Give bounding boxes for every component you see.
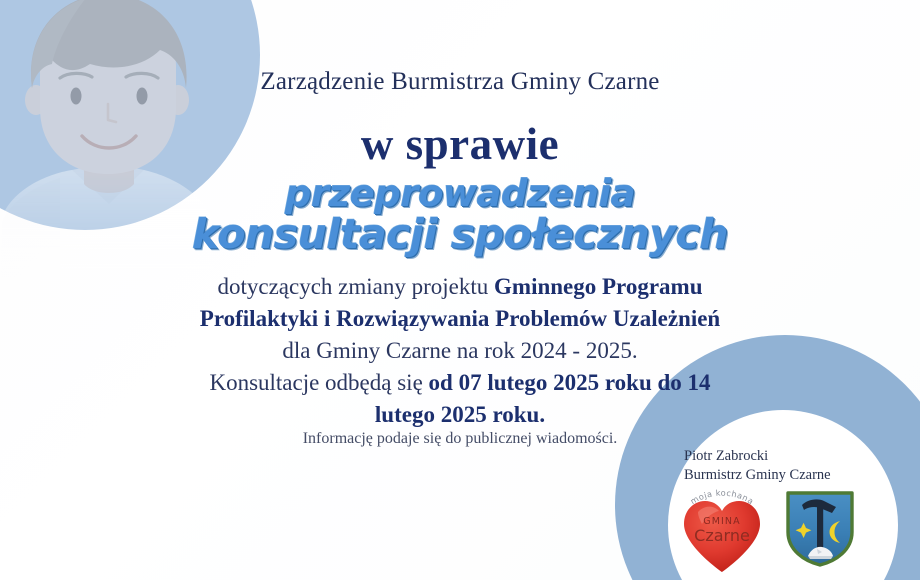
body-line-1-bold: Gminnego Programu — [494, 274, 702, 299]
gmina-czarne-heart-logo: moja kochana GMINA Czarne — [676, 488, 768, 576]
coat-of-arms-icon — [784, 488, 856, 568]
signature-name: Piotr Zabrocki — [684, 447, 831, 466]
body-line-5-bold: lutego 2025 roku. — [375, 402, 545, 427]
signature-block: Piotr Zabrocki Burmistrz Gminy Czarne — [684, 447, 831, 484]
logo-row: moja kochana GMINA Czarne — [676, 488, 876, 580]
body-line-2-bold: Profilaktyki i Rozwiązywania Problemów U… — [200, 306, 720, 331]
heart-icon — [676, 488, 768, 576]
footnote-text: Informację podaje się do publicznej wiad… — [0, 430, 920, 448]
blue-headline-line-1: przeprowadzenia — [0, 176, 920, 212]
subtitle-w-sprawie: w sprawie — [0, 118, 920, 170]
body-line-5: lutego 2025 roku. — [0, 399, 920, 431]
body-line-1: dotyczących zmiany projektu Gminnego Pro… — [0, 271, 920, 303]
body-line-4-bold: od 07 lutego 2025 roku do 14 — [429, 370, 711, 395]
body-line-4: Konsultacje odbędą się od 07 lutego 2025… — [0, 367, 920, 399]
body-line-2: Profilaktyki i Rozwiązywania Problemów U… — [0, 303, 920, 335]
body-line-4-plain: Konsultacje odbędą się — [209, 370, 428, 395]
page-title: Zarządzenie Burmistrza Gminy Czarne — [0, 68, 920, 96]
body-line-3: dla Gminy Czarne na rok 2024 - 2025. — [0, 335, 920, 367]
blue-headline-line-2: konsultacji społecznych — [0, 214, 920, 254]
blue-headline: przeprowadzenia konsultacji społecznych — [0, 176, 920, 254]
body-text: dotyczących zmiany projektu Gminnego Pro… — [0, 271, 920, 431]
signature-title: Burmistrz Gminy Czarne — [684, 466, 831, 485]
body-line-1-plain: dotyczących zmiany projektu — [217, 274, 494, 299]
poster-canvas: Zarządzenie Burmistrza Gminy Czarne w sp… — [0, 0, 920, 580]
